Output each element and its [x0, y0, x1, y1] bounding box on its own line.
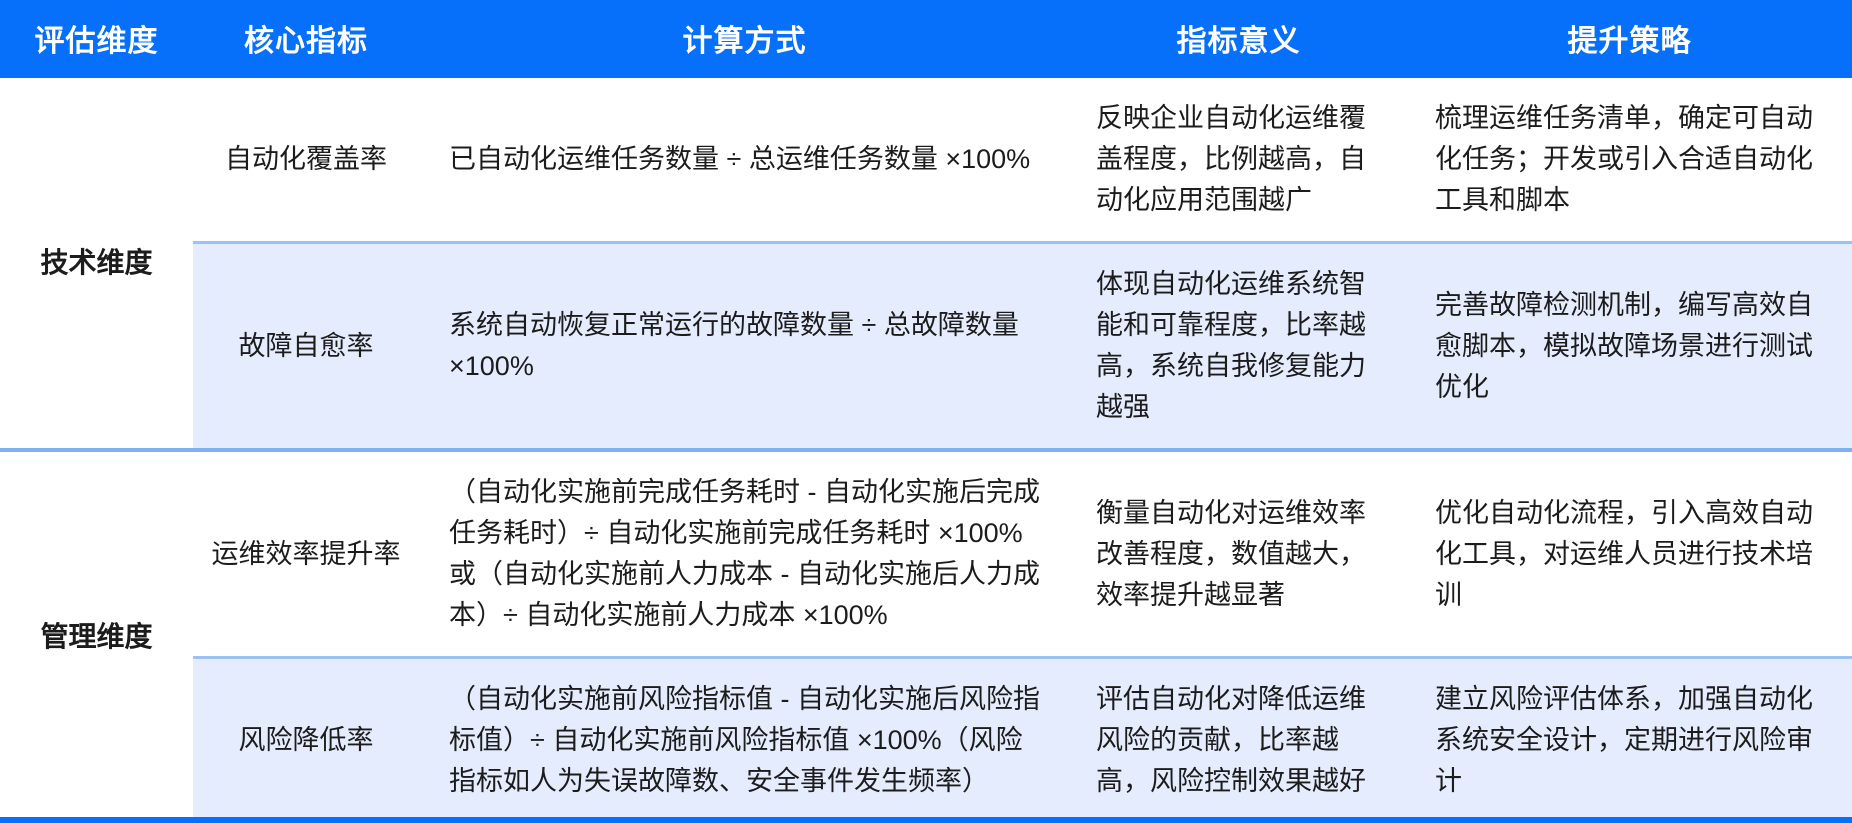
kpi-cell: 自动化覆盖率 [193, 78, 419, 243]
formula-cell: 系统自动恢复正常运行的故障数量 ÷ 总故障数量 ×100% [419, 243, 1070, 451]
formula-cell: （自动化实施前风险指标值 - 自动化实施后风险指标值）÷ 自动化实施前风险指标值… [419, 658, 1070, 823]
column-header-strategy: 提升策略 [1407, 0, 1852, 78]
kpi-cell: 运维效率提升率 [193, 450, 419, 658]
table-header: 评估维度 核心指标 计算方式 指标意义 提升策略 [0, 0, 1852, 78]
table-row: 管理维度 运维效率提升率 （自动化实施前完成任务耗时 - 自动化实施后完成任务耗… [0, 450, 1852, 658]
table-row: 故障自愈率 系统自动恢复正常运行的故障数量 ÷ 总故障数量 ×100% 体现自动… [0, 243, 1852, 451]
meaning-cell: 衡量自动化对运维效率改善程度，数值越大，效率提升越显著 [1070, 450, 1407, 658]
column-header-meaning: 指标意义 [1070, 0, 1407, 78]
table-body: 技术维度 自动化覆盖率 已自动化运维任务数量 ÷ 总运维任务数量 ×100% 反… [0, 78, 1852, 822]
strategy-cell: 建立风险评估体系，加强自动化系统安全设计，定期进行风险审计 [1407, 658, 1852, 823]
column-header-kpi: 核心指标 [193, 0, 419, 78]
formula-cell: （自动化实施前完成任务耗时 - 自动化实施后完成任务耗时）÷ 自动化实施前完成任… [419, 450, 1070, 658]
column-header-formula: 计算方式 [419, 0, 1070, 78]
meaning-cell: 评估自动化对降低运维风险的贡献，比率越高，风险控制效果越好 [1070, 658, 1407, 823]
meaning-cell: 体现自动化运维系统智能和可靠程度，比率越高，系统自我修复能力越强 [1070, 243, 1407, 451]
strategy-cell: 梳理运维任务清单，确定可自动化任务；开发或引入合适自动化工具和脚本 [1407, 78, 1852, 243]
table-row: 技术维度 自动化覆盖率 已自动化运维任务数量 ÷ 总运维任务数量 ×100% 反… [0, 78, 1852, 243]
dimension-cell-technical: 技术维度 [0, 78, 193, 450]
strategy-cell: 优化自动化流程，引入高效自动化工具，对运维人员进行技术培训 [1407, 450, 1852, 658]
table-row: 风险降低率 （自动化实施前风险指标值 - 自动化实施后风险指标值）÷ 自动化实施… [0, 658, 1852, 823]
formula-cell: 已自动化运维任务数量 ÷ 总运维任务数量 ×100% [419, 78, 1070, 243]
table-bottom-rule [0, 817, 1852, 823]
header-row: 评估维度 核心指标 计算方式 指标意义 提升策略 [0, 0, 1852, 78]
strategy-cell: 完善故障检测机制，编写高效自愈脚本，模拟故障场景进行测试优化 [1407, 243, 1852, 451]
meaning-cell: 反映企业自动化运维覆盖程度，比例越高，自动化应用范围越广 [1070, 78, 1407, 243]
kpi-cell: 故障自愈率 [193, 243, 419, 451]
dimension-cell-management: 管理维度 [0, 450, 193, 822]
evaluation-matrix-container: 评估维度 核心指标 计算方式 指标意义 提升策略 技术维度 自动化覆盖率 已自动… [0, 0, 1852, 823]
kpi-cell: 风险降低率 [193, 658, 419, 823]
automation-ops-evaluation-table: 评估维度 核心指标 计算方式 指标意义 提升策略 技术维度 自动化覆盖率 已自动… [0, 0, 1852, 822]
column-header-dimension: 评估维度 [0, 0, 193, 78]
